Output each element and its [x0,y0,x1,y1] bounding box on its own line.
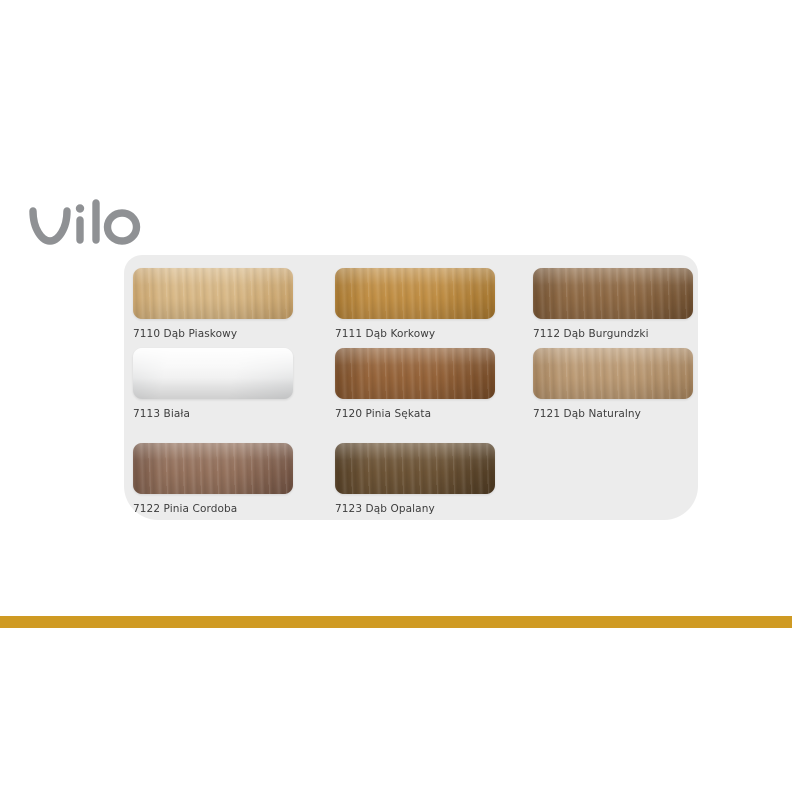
swatch-item-7122[interactable]: 7122 Pinia Cordoba [133,443,293,515]
swatch-chip-7112[interactable] [533,268,693,319]
swatch-chip-7113[interactable] [133,348,293,399]
vilo-i-dot-icon [76,204,84,212]
swatch-gloss [533,268,693,319]
swatch-chip-7121[interactable] [533,348,693,399]
swatch-item-7113[interactable]: 7113 Biała [133,348,293,420]
swatch-item-7120[interactable]: 7120 Pinia Sękata [335,348,495,420]
samples-card: 7110 Dąb Piaskowy 7111 Dąb Korkowy 7112 … [124,255,698,520]
swatch-label-7111: 7111 Dąb Korkowy [335,328,495,340]
swatch-gloss [133,268,293,319]
swatch-label-7121: 7121 Dąb Naturalny [533,408,693,420]
vilo-wordmark-icon [28,197,148,253]
swatch-chip-7120[interactable] [335,348,495,399]
swatch-item-7112[interactable]: 7112 Dąb Burgundzki [533,268,693,340]
brand-logo [28,197,148,253]
swatch-item-7111[interactable]: 7111 Dąb Korkowy [335,268,495,340]
swatch-chip-7123[interactable] [335,443,495,494]
swatch-grid: 7110 Dąb Piaskowy 7111 Dąb Korkowy 7112 … [124,255,698,520]
accent-bar [0,616,792,628]
swatch-gloss [335,443,495,494]
swatch-item-7110[interactable]: 7110 Dąb Piaskowy [133,268,293,340]
swatch-label-7123: 7123 Dąb Opalany [335,503,495,515]
swatch-label-7110: 7110 Dąb Piaskowy [133,328,293,340]
swatch-item-7121[interactable]: 7121 Dąb Naturalny [533,348,693,420]
swatch-gloss [335,348,495,399]
swatch-chip-7111[interactable] [335,268,495,319]
swatch-gloss [133,443,293,494]
swatch-label-7122: 7122 Pinia Cordoba [133,503,293,515]
swatch-chip-7110[interactable] [133,268,293,319]
swatch-label-7120: 7120 Pinia Sękata [335,408,495,420]
swatch-item-7123[interactable]: 7123 Dąb Opalany [335,443,495,515]
swatch-label-7112: 7112 Dąb Burgundzki [533,328,693,340]
swatch-gloss [533,348,693,399]
swatch-chip-7122[interactable] [133,443,293,494]
swatch-label-7113: 7113 Biała [133,408,293,420]
swatch-gloss [335,268,495,319]
swatch-gloss [133,348,293,399]
